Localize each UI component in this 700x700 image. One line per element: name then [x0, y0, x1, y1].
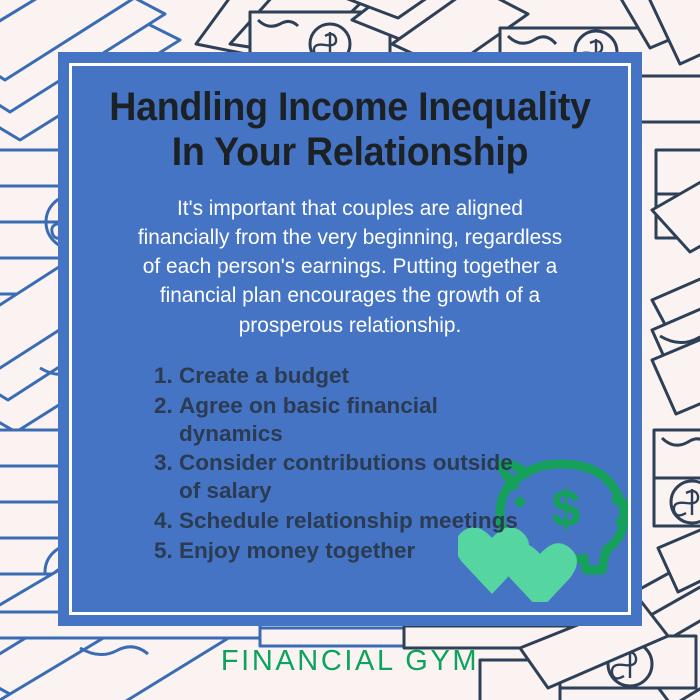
body-paragraph: It's important that couples are aligned … [133, 194, 568, 340]
list-item: Enjoy money together [154, 537, 539, 565]
list-item: Agree on basic financial dynamics [154, 392, 539, 448]
content-card: $ Handling Income Inequality In Your Rel… [58, 52, 642, 626]
list-item: Schedule relationship meetings [154, 507, 539, 535]
brand-wordmark: FINANCIAL GYM [0, 645, 700, 678]
steps-list: Create a budget Agree on basic financial… [88, 362, 612, 565]
poster-canvas: $ Handling Income Inequality In Your Rel… [0, 0, 700, 700]
list-item: Create a budget [154, 362, 539, 390]
bill-stack-right-middle [652, 148, 700, 252]
list-item: Consider contributions outside of salary [154, 449, 539, 505]
bill-stack-right-lower [654, 430, 700, 526]
headline-line-1: Handling Income Inequality [109, 85, 591, 129]
headline-line-2: In Your Relationship [172, 130, 528, 174]
page-title: Handling Income Inequality In Your Relat… [104, 85, 597, 175]
